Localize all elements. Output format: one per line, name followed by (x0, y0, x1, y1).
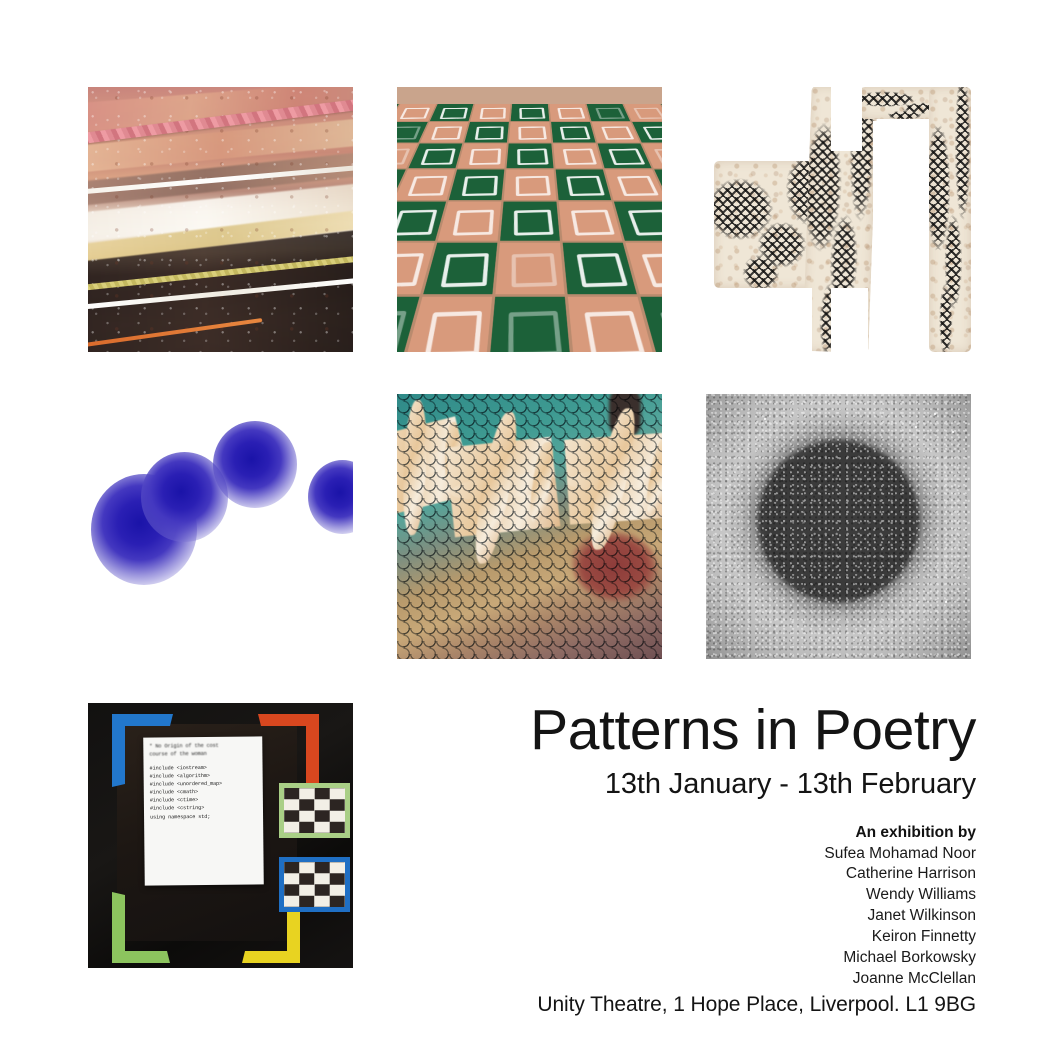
white-cutout (706, 288, 812, 352)
white-cutout (831, 87, 863, 151)
ink-blob (213, 421, 298, 508)
white-cutout (873, 121, 926, 352)
artist-name: Sufea Mohamad Noor (430, 844, 976, 865)
chequered-diamond-card (279, 783, 350, 838)
checker-square (500, 201, 560, 240)
artist-name: Catherine Harrison (430, 864, 976, 885)
artwork-image (706, 394, 971, 659)
artist-name: Wendy Williams (430, 885, 976, 906)
code-line: course of the woman (149, 750, 256, 759)
film-grain (706, 394, 971, 659)
checker-square (495, 242, 564, 293)
artwork-code-sheet-assemblage: * No Origin of the costcourse of the wom… (88, 703, 353, 968)
artist-name: Joanne McClellan (430, 969, 976, 990)
artist-name: Keiron Finnetty (430, 927, 976, 948)
checker-square (429, 104, 473, 121)
venue-address: Unity Theatre, 1 Hope Place, Liverpool. … (537, 993, 976, 1017)
checker-square (457, 143, 506, 168)
artist-list: Sufea Mohamad NoorCatherine HarrisonWend… (430, 844, 976, 990)
artist-name: Michael Borkowsky (430, 948, 976, 969)
artist-name: Janet Wilkinson (430, 906, 976, 927)
cross-stitch-texture (929, 87, 971, 352)
checker-square (591, 121, 639, 141)
artwork-green-salmon-checkerboard (397, 87, 662, 352)
exhibition-poster: * No Origin of the costcourse of the wom… (0, 0, 1060, 1060)
checker-square (397, 169, 455, 200)
checkerboard-grid (397, 104, 662, 352)
artwork-image (397, 394, 662, 659)
page-title: Patterns in Poetry (430, 700, 976, 762)
checker-square (470, 104, 510, 121)
printed-code-sheet: * No Origin of the costcourse of the wom… (143, 737, 264, 887)
artwork-cross-stitch-paper-shapes (706, 87, 971, 352)
checker-square (508, 121, 550, 141)
checker-square (488, 296, 570, 352)
exhibition-dates: 13th January - 13th February (430, 768, 976, 801)
checker-square (604, 169, 662, 200)
chequered-diamond-card (279, 857, 350, 912)
artwork-image (88, 394, 353, 659)
artwork-image: * No Origin of the costcourse of the wom… (88, 703, 353, 968)
scale-texture (397, 394, 662, 659)
checker-square (437, 201, 501, 240)
checker-square (397, 104, 436, 121)
corner-bracket-red (258, 714, 319, 787)
checker-square (423, 242, 497, 293)
checker-square (562, 242, 636, 293)
ink-blob (308, 460, 353, 534)
artwork-blue-ink-blobs (88, 394, 353, 659)
code-line: using namespace std; (150, 812, 257, 821)
checker-square (553, 143, 602, 168)
exhibition-by-label: An exhibition by (430, 824, 976, 842)
checker-square (586, 104, 630, 121)
checker-square (503, 169, 556, 200)
paper-shape (929, 87, 971, 352)
checker-square (549, 104, 589, 121)
artwork-image (88, 87, 353, 352)
artwork-layered-textile-landscape (88, 87, 353, 352)
checker-square (506, 143, 553, 168)
star-speck (934, 413, 936, 415)
checker-square (420, 121, 468, 141)
checker-square (448, 169, 504, 200)
corner-bracket-green (112, 892, 170, 963)
artwork-mosaic-scales-airplanes (397, 394, 662, 659)
checker-square (551, 121, 595, 141)
artwork-eclipse-dark-disc (706, 394, 971, 659)
checker-square (555, 169, 611, 200)
checker-square (558, 201, 622, 240)
star-speck (945, 601, 947, 603)
artwork-image (706, 87, 971, 352)
poster-text-block: Patterns in Poetry 13th January - 13th F… (430, 700, 976, 990)
checker-square (464, 121, 508, 141)
checker-square (510, 104, 549, 121)
artwork-image (397, 87, 662, 352)
white-cutout (831, 288, 868, 352)
